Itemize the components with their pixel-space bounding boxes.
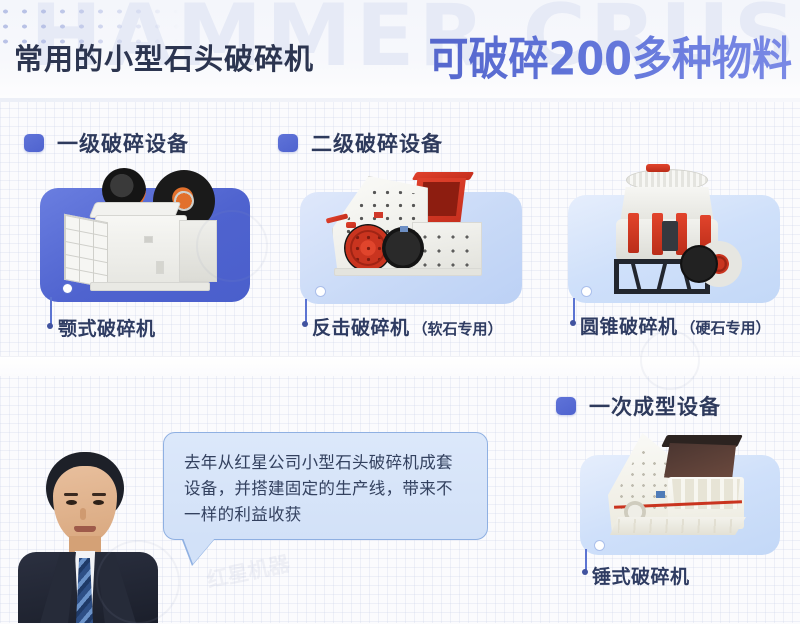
section-label-shaping: 一次成型设备: [556, 391, 721, 421]
product-card-cone-crusher[interactable]: [568, 195, 780, 303]
product-card-impact-crusher[interactable]: [300, 192, 522, 304]
product-card-hammer-crusher[interactable]: [580, 455, 780, 555]
header-subtitle: 可破碎200多种物料: [429, 22, 793, 88]
square-bullet-icon: [278, 134, 298, 152]
impact-crusher-illustration: [300, 164, 522, 306]
watermark-ring: [96, 540, 180, 624]
infographic-page: HAMMER CRUSHER 常用的小型石头破碎机 可破碎200多种物料 一级破…: [0, 0, 800, 623]
cone-crusher-illustration: [568, 163, 780, 303]
page-title: 常用的小型石头破碎机: [14, 36, 314, 78]
section-label-text: 二级破碎设备: [311, 128, 443, 158]
connector-end-dot-cone: [570, 320, 576, 326]
watermark-ring: [196, 210, 268, 282]
square-bullet-icon: [24, 134, 44, 152]
product-caption-impact-crusher: 反击破碎机 （软石专用）: [312, 313, 503, 340]
connector-line-hammer: [585, 549, 587, 571]
product-caption-hammer-crusher: 锤式破碎机: [592, 562, 693, 589]
product-note: （硬石专用）: [681, 317, 771, 338]
card-anchor-dot: [595, 541, 604, 550]
connector-line-impact: [305, 299, 307, 323]
hammer-crusher-illustration: [580, 419, 780, 555]
connector-end-dot-hammer: [582, 569, 588, 575]
connector-line-cone: [573, 298, 575, 322]
card-anchor-dot: [63, 284, 72, 293]
testimonial-bubble: 去年从红星公司小型石头破碎机成套设备，并搭建固定的生产线，带来不一样的利益收获: [163, 432, 488, 540]
card-anchor-dot: [316, 287, 325, 296]
card-anchor-dot: [582, 287, 591, 296]
section-label-primary: 一级破碎设备: [24, 128, 189, 158]
connector-line-jaw: [50, 297, 52, 325]
section-label-text: 一次成型设备: [589, 391, 721, 421]
section-label-secondary: 二级破碎设备: [278, 128, 443, 158]
watermark-ring: [640, 330, 700, 390]
connector-end-dot-jaw: [47, 323, 53, 329]
product-caption-jaw-crusher: 颚式破碎机: [58, 314, 159, 341]
square-bullet-icon: [556, 397, 576, 415]
testimonial-bubble-tail: [183, 538, 215, 564]
section-label-text: 一级破碎设备: [57, 128, 189, 158]
product-name: 颚式破碎机: [58, 314, 156, 341]
product-name: 锤式破碎机: [592, 562, 690, 589]
product-name: 反击破碎机: [312, 313, 410, 340]
header-divider: [0, 98, 800, 102]
product-note: （软石专用）: [413, 318, 503, 339]
page-header: HAMMER CRUSHER 常用的小型石头破碎机 可破碎200多种物料: [0, 0, 800, 98]
testimonial-quote: 去年从红星公司小型石头破碎机成套设备，并搭建固定的生产线，带来不一样的利益收获: [184, 450, 469, 528]
connector-end-dot-impact: [302, 321, 308, 327]
watermark-text: 红星机器: [204, 548, 292, 595]
